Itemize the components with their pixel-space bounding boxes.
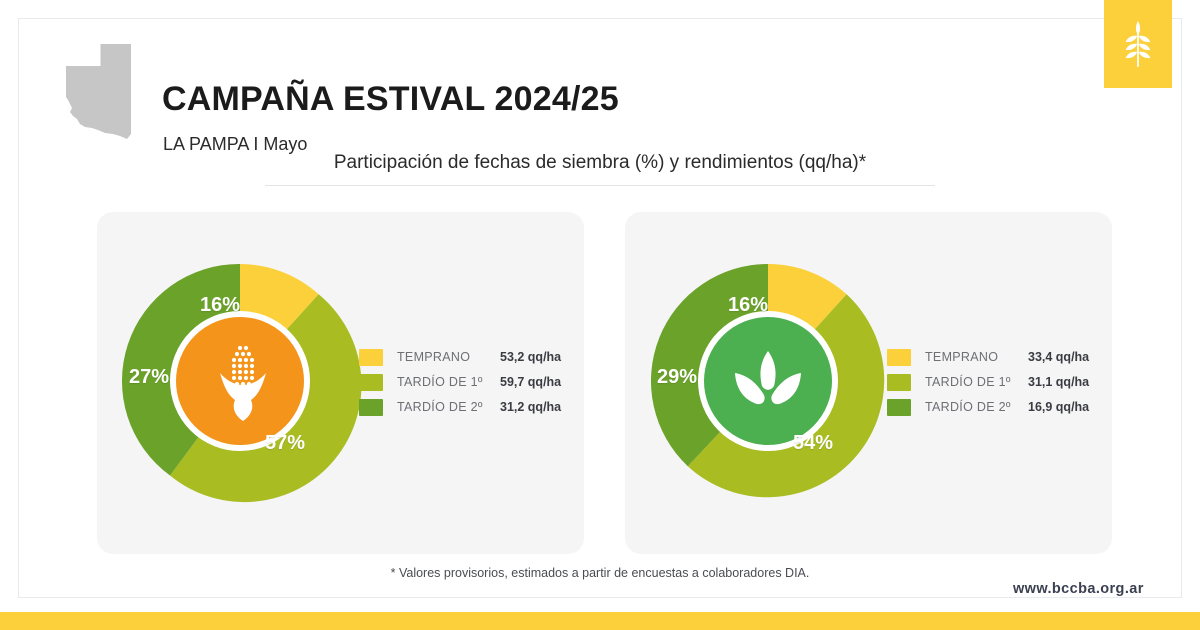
donut-chart-maiz: 16% 57% 27% [115, 256, 365, 506]
legend-value-temprano: 33,4 qq/ha [1028, 350, 1089, 364]
legend-label-tardio1: TARDÍO DE 1º [925, 375, 1028, 389]
crop-hub-soja [698, 311, 838, 451]
legend-row: TARDÍO DE 1º 31,1 qq/ha [887, 370, 1102, 394]
slice-label-tardio2: 29% [657, 366, 697, 389]
wheat-badge [1104, 0, 1172, 88]
legend-swatch-temprano [887, 349, 911, 366]
wheat-stalk-icon [1121, 19, 1155, 69]
footnote: * Valores provisorios, estimados a parti… [0, 566, 1200, 580]
legend-value-temprano: 53,2 qq/ha [500, 350, 561, 364]
legend-label-tardio2: TARDÍO DE 2º [397, 400, 500, 414]
site-url[interactable]: www.bccba.org.ar [1013, 581, 1144, 597]
legend-label-tardio2: TARDÍO DE 2º [925, 400, 1028, 414]
corn-cob-icon [202, 339, 278, 423]
soy-leaves-icon [728, 348, 808, 414]
la-pampa-map-icon [58, 42, 158, 150]
legend-swatch-tardio2 [359, 399, 383, 416]
legend-swatch-tardio1 [359, 374, 383, 391]
legend-row: TARDÍO DE 1º 59,7 qq/ha [359, 370, 574, 394]
slice-label-tardio2: 27% [129, 366, 169, 389]
legend-value-tardio2: 16,9 qq/ha [1028, 400, 1089, 414]
legend-value-tardio2: 31,2 qq/ha [500, 400, 561, 414]
legend-row: TEMPRANO 53,2 qq/ha [359, 345, 574, 369]
legend-swatch-tardio1 [887, 374, 911, 391]
header: CAMPAÑA ESTIVAL 2024/25 LA PAMPA I Mayo [58, 36, 958, 148]
page-title: CAMPAÑA ESTIVAL 2024/25 [162, 80, 619, 119]
donut-chart-soja: 16% 54% 29% [643, 256, 893, 506]
slice-label-temprano: 16% [200, 294, 240, 317]
legend-label-temprano: TEMPRANO [397, 350, 500, 364]
section-heading: Participación de fechas de siembra (%) y… [265, 152, 935, 186]
slice-label-temprano: 16% [728, 294, 768, 317]
legend-row: TARDÍO DE 2º 16,9 qq/ha [887, 395, 1102, 419]
legend-value-tardio1: 59,7 qq/ha [500, 375, 561, 389]
chart-card-maiz: 16% 57% 27% TEMPRANO 53,2 qq/ha TARDÍO D… [97, 212, 584, 554]
bottom-bar [0, 612, 1200, 630]
infographic-page: CAMPAÑA ESTIVAL 2024/25 LA PAMPA I Mayo … [0, 0, 1200, 630]
slice-label-tardio1: 54% [793, 432, 833, 455]
legend-label-tardio1: TARDÍO DE 1º [397, 375, 500, 389]
legend-soja: TEMPRANO 33,4 qq/ha TARDÍO DE 1º 31,1 qq… [887, 345, 1102, 420]
legend-swatch-tardio2 [887, 399, 911, 416]
legend-maiz: TEMPRANO 53,2 qq/ha TARDÍO DE 1º 59,7 qq… [359, 345, 574, 420]
chart-card-soja: 16% 54% 29% TEMPRANO 33,4 qq/ha TARDÍO D… [625, 212, 1112, 554]
legend-value-tardio1: 31,1 qq/ha [1028, 375, 1089, 389]
legend-row: TARDÍO DE 2º 31,2 qq/ha [359, 395, 574, 419]
legend-row: TEMPRANO 33,4 qq/ha [887, 345, 1102, 369]
legend-label-temprano: TEMPRANO [925, 350, 1028, 364]
crop-hub-maiz [170, 311, 310, 451]
slice-label-tardio1: 57% [265, 432, 305, 455]
legend-swatch-temprano [359, 349, 383, 366]
section-heading-text: Participación de fechas de siembra (%) y… [334, 152, 866, 173]
